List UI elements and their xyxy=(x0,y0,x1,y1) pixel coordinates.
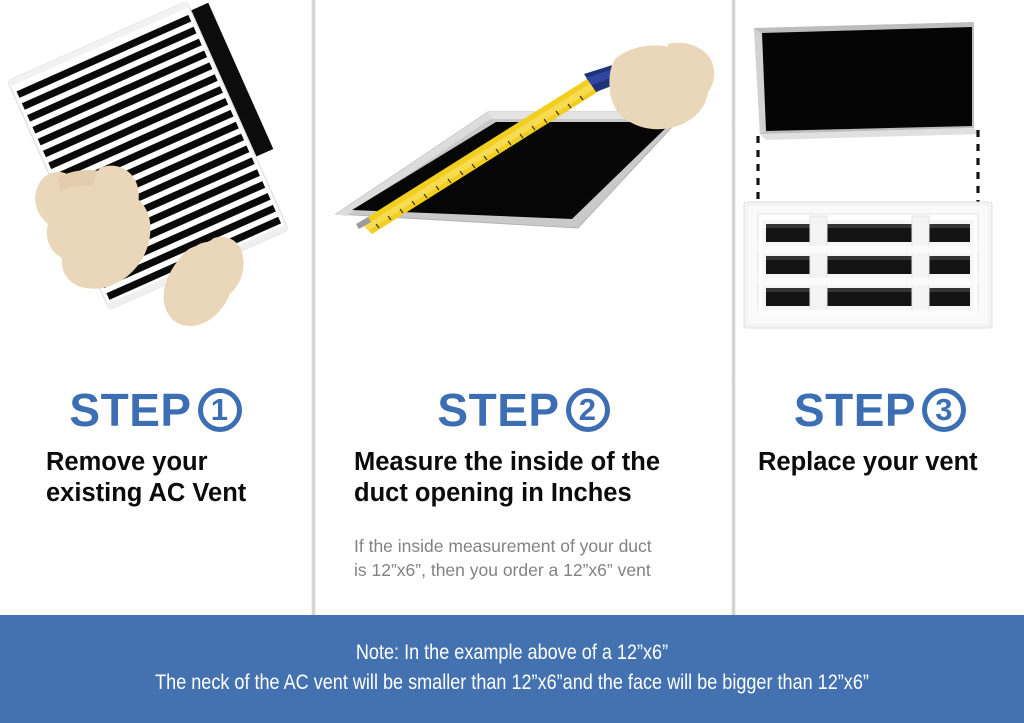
step-3-number-badge: 3 xyxy=(922,388,966,432)
step-2-illustration xyxy=(316,0,731,370)
step-2-title-line-1: Measure the inside of the xyxy=(354,447,714,478)
step-3-title: Replace your vent xyxy=(758,447,1020,478)
step-2-note-line-1: If the inside measurement of your duct xyxy=(354,534,726,558)
step-2-title: Measure the inside of the duct opening i… xyxy=(354,447,714,509)
step-3-title-line-1: Replace your vent xyxy=(758,447,1020,478)
vent-register xyxy=(744,202,992,328)
bottom-note-banner: Note: In the example above of a 12”x6” T… xyxy=(0,615,1024,723)
step-1-title-line-1: Remove your xyxy=(46,447,296,478)
infographic-page: STEP1 Remove your existing AC Vent xyxy=(0,0,1024,723)
step-1-number-badge: 1 xyxy=(198,388,242,432)
banner-line-1: Note: In the example above of a 12”x6” xyxy=(72,638,953,668)
banner-line-2: The neck of the AC vent will be smaller … xyxy=(72,668,953,698)
step-3-word: STEP xyxy=(794,384,916,436)
step-3-heading: STEP3 xyxy=(736,383,1024,433)
step-2-note-line-2: is 12”x6”, then you order a 12”x6” vent xyxy=(354,558,726,582)
step-1-illustration xyxy=(0,0,311,370)
step-2-number-badge: 2 xyxy=(566,388,610,432)
step-column-2: STEP2 Measure the inside of the duct ope… xyxy=(316,0,731,615)
step-1-word: STEP xyxy=(69,384,191,436)
hand-holding-tape xyxy=(609,43,714,129)
step-2-note: If the inside measurement of your duct i… xyxy=(354,534,726,582)
step-2-title-line-2: duct opening in Inches xyxy=(354,478,714,509)
vent-divider-2 xyxy=(912,216,929,314)
step-1-heading: STEP1 xyxy=(0,383,311,433)
step-2-heading: STEP2 xyxy=(316,383,731,433)
step-1-title: Remove your existing AC Vent xyxy=(46,447,296,509)
step-1-title-line-2: existing AC Vent xyxy=(46,478,296,509)
step-column-3: STEP3 Replace your vent xyxy=(736,0,1024,615)
step-3-illustration xyxy=(736,0,1024,370)
step-2-word: STEP xyxy=(437,384,559,436)
vent-divider-1 xyxy=(810,216,827,314)
duct-opening-upper xyxy=(754,22,980,140)
step-column-1: STEP1 Remove your existing AC Vent xyxy=(0,0,311,615)
